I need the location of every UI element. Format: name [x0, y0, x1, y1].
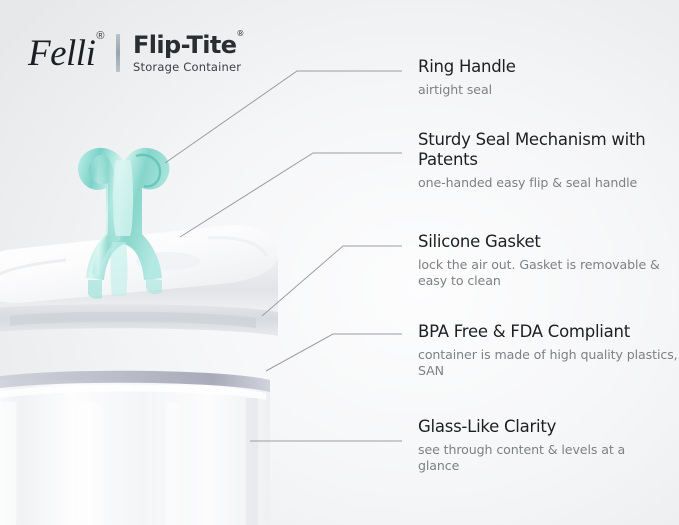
- ring-handle: [78, 148, 169, 299]
- feature-title: Ring Handle: [418, 57, 670, 77]
- feature-description: one-handed easy flip & seal handle: [418, 175, 670, 192]
- product-line-block: Flip-Tite® Storage Container: [133, 33, 244, 74]
- container-body: [0, 371, 270, 525]
- feature-description: lock the air out. Gasket is removable & …: [418, 257, 670, 290]
- feature-title: Glass-Like Clarity: [418, 417, 670, 437]
- feature-title: Silicone Gasket: [418, 232, 670, 252]
- product-photo: [0, 130, 300, 525]
- registered-trademark-small-icon: ®: [236, 29, 243, 38]
- logo-divider: [116, 34, 120, 72]
- product-line-name: Flip-Tite®: [133, 33, 244, 57]
- feature-callout-silicone-gasket: Silicone Gasket lock the air out. Gasket…: [418, 232, 670, 290]
- feature-callout-bpa-free-fda-compliant: BPA Free & FDA Compliant container is ma…: [418, 322, 679, 380]
- brand-name-text: Felli: [28, 33, 95, 74]
- feature-description: airtight seal: [418, 82, 670, 99]
- feature-description: container is made of high quality plasti…: [418, 347, 679, 380]
- product-line-tagline: Storage Container: [133, 60, 244, 74]
- brand-name: Felli®: [28, 35, 105, 72]
- feature-title: BPA Free & FDA Compliant: [418, 322, 679, 342]
- brand-logo: Felli® Flip-Tite® Storage Container: [28, 28, 244, 78]
- feature-callout-glass-like-clarity: Glass-Like Clarity see through content &…: [418, 417, 670, 475]
- feature-callout-sturdy-seal-mechanism: Sturdy Seal Mechanism with Patents one-h…: [418, 130, 670, 191]
- feature-callout-ring-handle: Ring Handle airtight seal: [418, 57, 670, 98]
- product-infographic: Felli® Flip-Tite® Storage Container: [0, 0, 679, 525]
- container-illustration: [0, 130, 300, 525]
- feature-description: see through content & levels at a glance: [418, 442, 670, 475]
- feature-title: Sturdy Seal Mechanism with Patents: [418, 130, 670, 170]
- product-line-text: Flip-Tite: [133, 31, 236, 59]
- registered-trademark-icon: ®: [96, 30, 104, 42]
